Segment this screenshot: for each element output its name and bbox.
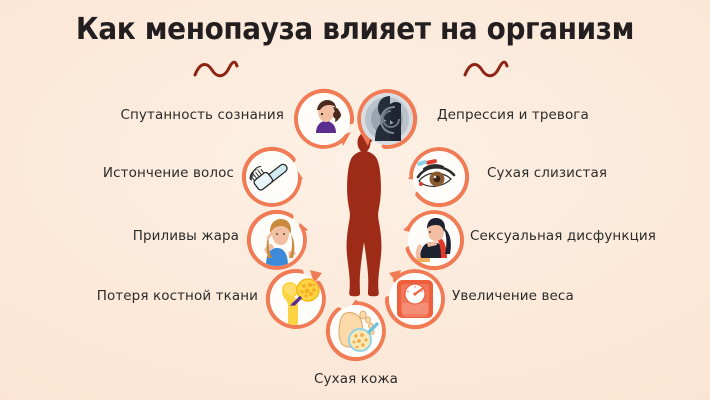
label-dry-skin: Сухая кожа bbox=[286, 371, 426, 387]
label-brain-fog: Спутанность сознания bbox=[0, 107, 292, 123]
woman-head-icon bbox=[298, 93, 350, 145]
bathroom-scale-icon bbox=[389, 273, 441, 325]
eye-icon bbox=[413, 151, 465, 203]
symptom-node-bone-loss[interactable] bbox=[265, 268, 327, 330]
hairbrush-icon bbox=[246, 151, 298, 203]
infographic-canvas: Как менопауза влияет на организм bbox=[0, 0, 710, 400]
label-bone-loss: Потеря костной ткани bbox=[0, 288, 266, 304]
label-sexual-dysfunction: Сексуальная дисфункция bbox=[470, 228, 710, 244]
symptom-node-brain-fog[interactable] bbox=[293, 88, 355, 150]
label-weight-gain: Увеличение веса bbox=[452, 288, 710, 304]
symptom-node-sexual-dysfunction[interactable] bbox=[403, 209, 465, 271]
woman-fanning-icon bbox=[251, 214, 303, 266]
page-title: Как менопауза влияет на организм bbox=[25, 12, 685, 47]
label-dry-mucosa: Сухая слизистая bbox=[487, 165, 710, 181]
bone-magnifier-icon bbox=[270, 273, 322, 325]
symptom-node-dry-skin[interactable] bbox=[325, 300, 387, 362]
label-hot-flashes: Приливы жара bbox=[0, 228, 247, 244]
symptom-node-hot-flashes[interactable] bbox=[246, 209, 308, 271]
foot-magnifier-icon bbox=[330, 305, 382, 357]
symptom-node-depression[interactable] bbox=[356, 88, 418, 150]
squiggle-left-icon bbox=[193, 60, 239, 80]
seated-woman-icon bbox=[408, 214, 460, 266]
squiggle-right-icon bbox=[463, 60, 509, 80]
symptom-node-dry-mucosa[interactable] bbox=[408, 146, 470, 208]
symptom-node-weight-gain[interactable] bbox=[384, 268, 446, 330]
symptom-node-hair-thinning[interactable] bbox=[241, 146, 303, 208]
head-swirl-icon bbox=[361, 93, 413, 145]
label-hair-thinning: Истончение волос bbox=[0, 165, 242, 181]
label-depression-anxiety: Депрессия и тревога bbox=[437, 107, 710, 123]
